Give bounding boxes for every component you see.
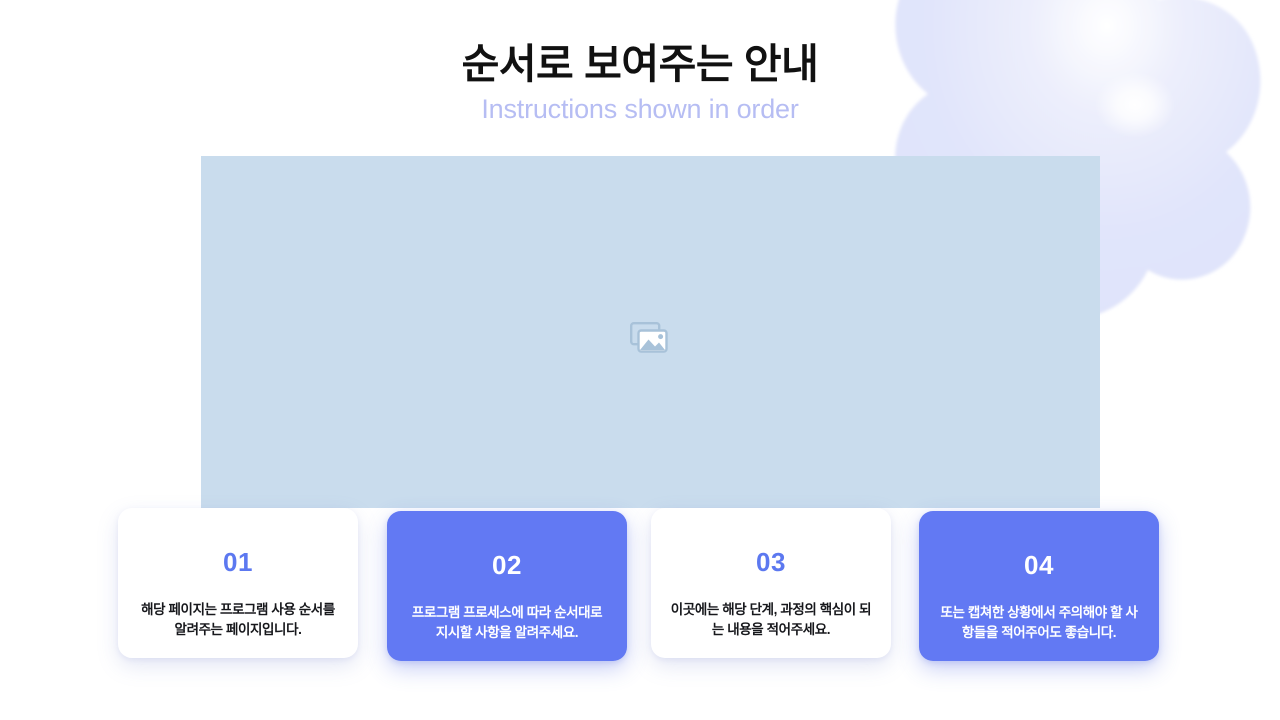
step-text-01: 해당 페이지는 프로그램 사용 순서를 알려주는 페이지입니다. — [136, 600, 341, 640]
step-number-04: 04 — [1024, 552, 1054, 578]
step-number-02: 02 — [492, 552, 522, 578]
slide-canvas: 순서로 보여주는 안내 Instructions shown in order … — [0, 0, 1280, 720]
step-text-02: 프로그램 프로세스에 따라 순서대로 지시할 사항을 알려주세요. — [405, 603, 610, 643]
image-placeholder-area[interactable] — [201, 156, 1100, 508]
step-text-03: 이곳에는 해당 단계, 과정의 핵심이 되는 내용을 적어주세요. — [669, 600, 874, 640]
page-title: 순서로 보여주는 안내 — [0, 40, 1280, 88]
step-cards-row: 01 해당 페이지는 프로그램 사용 순서를 알려주는 페이지입니다. 02 프… — [118, 508, 1162, 660]
heading-block: 순서로 보여주는 안내 Instructions shown in order — [0, 40, 1280, 126]
step-card-01[interactable]: 01 해당 페이지는 프로그램 사용 순서를 알려주는 페이지입니다. — [118, 508, 358, 658]
step-number-03: 03 — [756, 549, 786, 575]
page-subtitle: Instructions shown in order — [0, 93, 1280, 125]
step-card-04[interactable]: 04 또는 캡쳐한 상황에서 주의해야 할 사항들을 적어주어도 좋습니다. — [919, 511, 1159, 661]
step-card-03[interactable]: 03 이곳에는 해당 단계, 과정의 핵심이 되는 내용을 적어주세요. — [651, 508, 891, 658]
step-number-01: 01 — [223, 549, 253, 575]
image-placeholder-icon — [628, 322, 674, 362]
step-card-02[interactable]: 02 프로그램 프로세스에 따라 순서대로 지시할 사항을 알려주세요. — [387, 511, 627, 661]
step-text-04: 또는 캡쳐한 상황에서 주의해야 할 사항들을 적어주어도 좋습니다. — [937, 603, 1142, 643]
